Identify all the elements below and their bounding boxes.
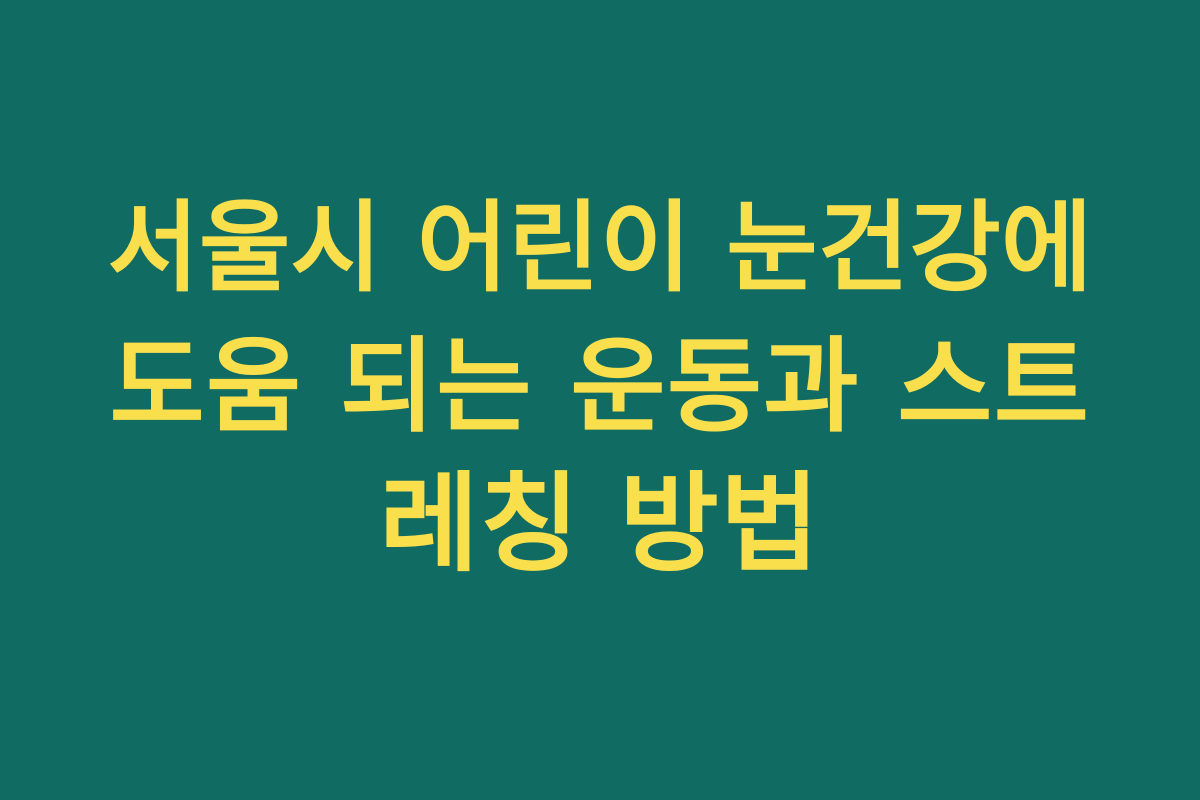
title-block: 서울시 어린이 눈건강에 도움 되는 운동과 스트 레칭 방법: [95, 180, 1105, 594]
title-line-1: 서울시 어린이 눈건강에: [107, 180, 1092, 318]
title-line-3: 레칭 방법: [379, 456, 820, 594]
thumbnail-card: 서울시 어린이 눈건강에 도움 되는 운동과 스트 레칭 방법: [0, 0, 1200, 800]
title-line-2: 도움 되는 운동과 스트: [110, 318, 1091, 456]
